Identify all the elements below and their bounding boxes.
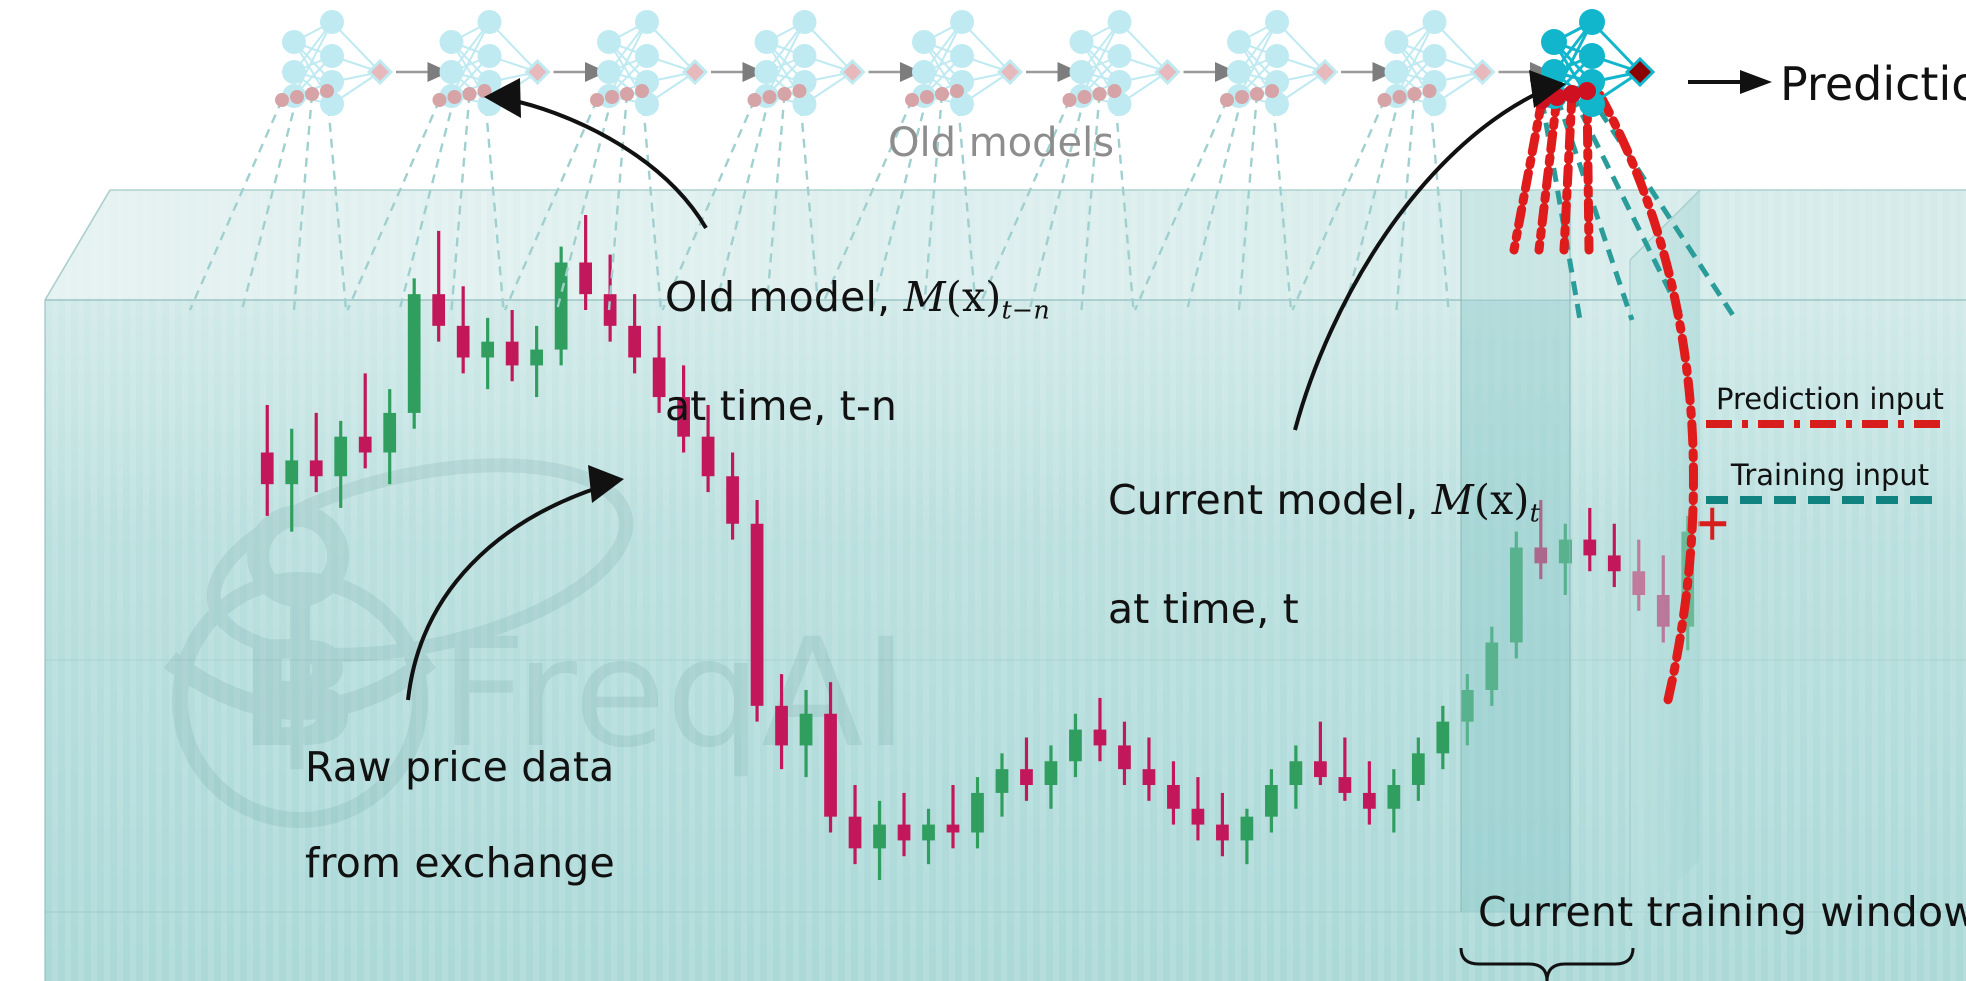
old-model-math-M: M <box>904 273 946 321</box>
raw-price-annotation: Raw price data from exchange <box>252 695 615 935</box>
current-model-text-line2: at time, t <box>1108 585 1299 633</box>
current-model-math-x: (x) <box>1474 476 1530 524</box>
prediction-label: Prediction <box>1780 57 1966 111</box>
raw-price-line1: Raw price data <box>305 743 615 791</box>
old-model-annotation: Old model, M(x)t−n at time, t-n <box>612 225 1050 478</box>
raw-price-line2: from exchange <box>305 839 615 887</box>
legend-swatch-prediction-input <box>1700 416 1950 432</box>
legend: Prediction input Training input <box>1700 382 1960 512</box>
legend-label-prediction-input: Prediction input <box>1700 382 1960 416</box>
old-model-text-line2: at time, t-n <box>665 382 897 430</box>
legend-swatch-training-input <box>1700 492 1950 508</box>
training-window-label: Current training window <box>1478 888 1966 936</box>
raw-price-callout-arrow <box>408 465 624 700</box>
legend-item-prediction-input: Prediction input <box>1700 382 1960 436</box>
current-model-math-subscript: t <box>1530 498 1540 528</box>
legend-item-training-input: Training input <box>1700 458 1960 512</box>
current-model-math-M: M <box>1432 476 1474 524</box>
legend-label-training-input: Training input <box>1700 458 1960 492</box>
current-model-text-line1: Current model, <box>1108 476 1432 524</box>
current-model-annotation: Current model, M(x)t at time, t <box>1055 428 1540 681</box>
diagram-canvas: ฿ FreqAI <box>0 0 1966 981</box>
old-model-text-line1: Old model, <box>665 273 904 321</box>
old-model-callout-arrow <box>484 78 706 228</box>
current-model-callout-arrow <box>1295 70 1566 430</box>
old-model-math-subscript: t−n <box>1002 295 1050 325</box>
old-models-label: Old models <box>888 120 1114 166</box>
old-model-math-x: (x) <box>946 273 1002 321</box>
